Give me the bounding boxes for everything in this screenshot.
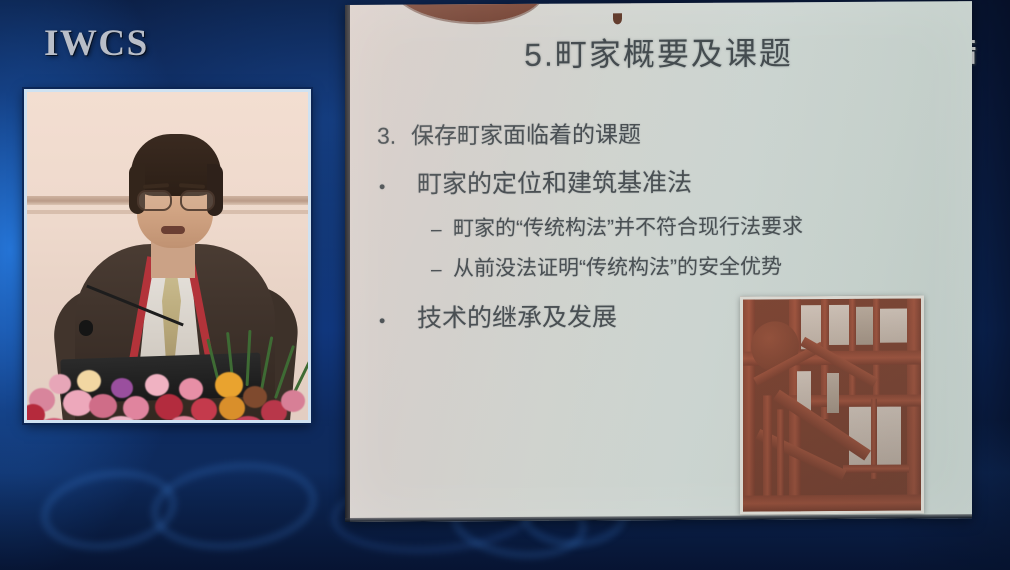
list-text: 从前没法证明“传统构法”的安全优势: [453, 250, 782, 282]
microphone-head: [79, 320, 93, 336]
presenter-scene: [27, 92, 308, 420]
iwcs-logo: IWCS: [44, 22, 149, 65]
presenter-video-inset[interactable]: [24, 89, 311, 423]
bullet-dot-icon: •: [379, 311, 417, 332]
slide-top-decoration-drop: [613, 13, 622, 24]
slide-line-numbered: 3. 保存町家面临着的课题: [377, 113, 958, 151]
slide-title: 5.町家概要及课题: [345, 27, 972, 77]
list-text: 町家的定位和建筑基准法: [417, 163, 692, 201]
list-text: 町家的“传统构法”并不符合现行法要求: [453, 210, 803, 242]
video-frame: IWCS 优酷: [0, 0, 1010, 570]
slide-top-decoration-frill: [495, 3, 625, 20]
speaker-glasses: [135, 190, 217, 207]
podium-flower-arrangement: [27, 360, 308, 420]
dash-bullet-icon: –: [431, 259, 453, 281]
list-number: 3.: [377, 123, 411, 150]
screen-left-edge: [345, 5, 350, 522]
slide-line-subbullet: – 町家的“传统构法”并不符合现行法要求: [377, 209, 958, 243]
slide-line-subbullet: – 从前没法证明“传统构法”的安全优势: [377, 249, 958, 283]
slide-machiya-photo: [740, 295, 924, 514]
bullet-dot-icon: •: [379, 177, 417, 198]
speaker-mouth: [161, 226, 185, 234]
list-text: 保存町家面临着的课题: [411, 115, 641, 150]
list-text: 技术的继承及发展: [417, 297, 617, 334]
dash-bullet-icon: –: [431, 219, 453, 241]
slide-line-bullet: • 町家的定位和建筑基准法: [377, 161, 958, 201]
projection-screen: 5.町家概要及课题 3. 保存町家面临着的课题 • 町家的定位和建筑基准法 – …: [345, 1, 972, 522]
